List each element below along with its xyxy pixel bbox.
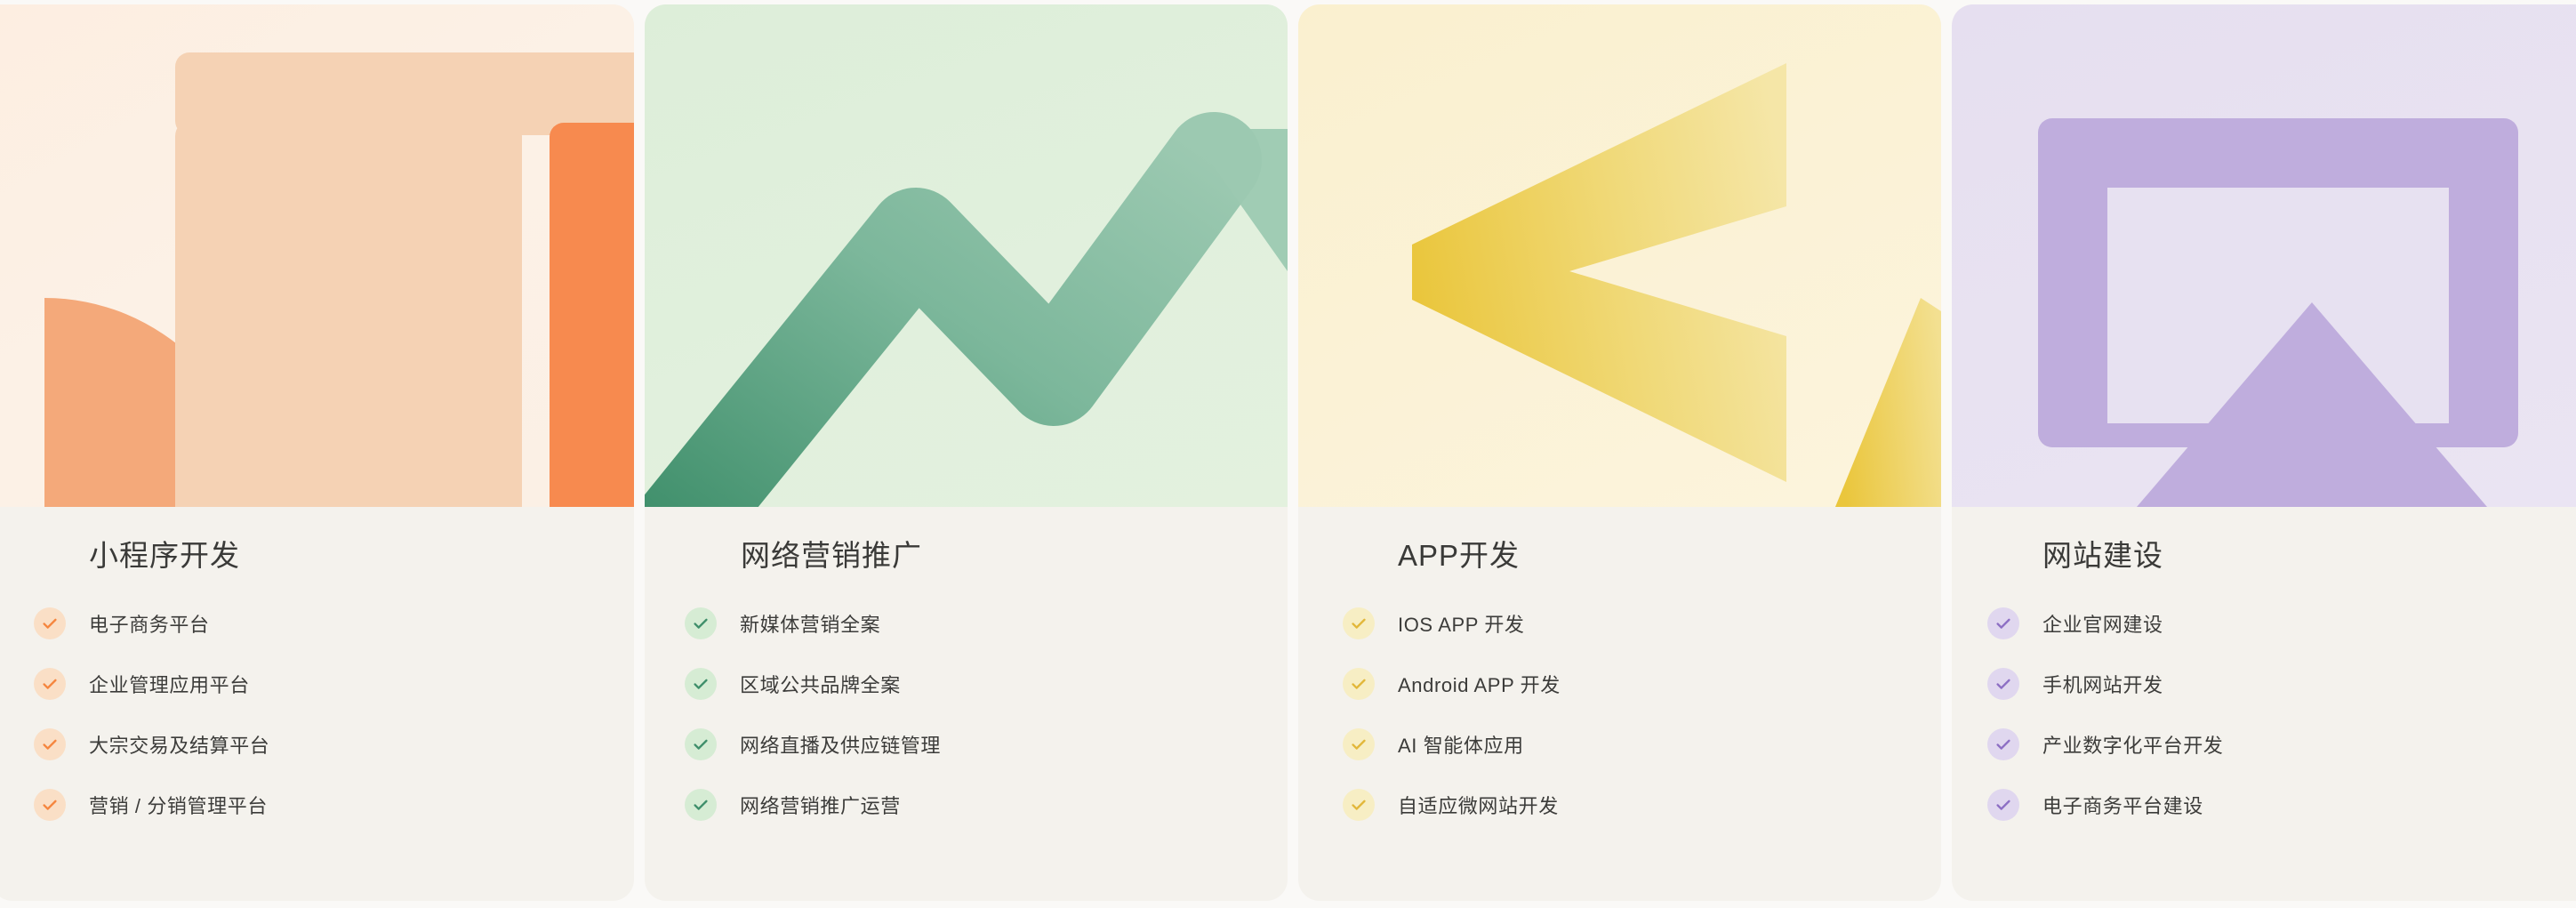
feature-list: 新媒体营销全案 区域公共品牌全案 网络直播及供应链管理: [685, 607, 1288, 849]
trend-arrow-svg: [645, 4, 1288, 507]
card-body: 小程序开发 电子商务平台 企业管理应用平台: [0, 507, 634, 901]
service-cards-row: 小程序开发 电子商务平台 企业管理应用平台: [0, 4, 2576, 908]
card-title: APP开发: [1398, 532, 1520, 575]
list-item[interactable]: 区域公共品牌全案: [685, 668, 1288, 700]
list-item[interactable]: 手机网站开发: [1987, 668, 2576, 700]
list-item[interactable]: 新媒体营销全案: [685, 607, 1288, 639]
list-item-label: 网络营销推广运营: [740, 791, 901, 819]
list-item[interactable]: 电子商务平台: [34, 607, 634, 639]
check-icon: [1343, 607, 1375, 639]
list-item-label: 产业数字化平台开发: [2042, 730, 2223, 759]
check-icon: [1343, 728, 1375, 760]
list-item-label: 电子商务平台: [89, 609, 210, 638]
list-item[interactable]: 网络直播及供应链管理: [685, 728, 1288, 760]
code-chevron-illustration: [1298, 4, 1941, 507]
service-card-mini-program[interactable]: 小程序开发 电子商务平台 企业管理应用平台: [0, 4, 634, 901]
list-item[interactable]: AI 智能体应用: [1343, 728, 1941, 760]
list-item-label: 区域公共品牌全案: [740, 670, 901, 698]
check-icon: [685, 789, 717, 821]
growth-trend-arrow-illustration: [645, 4, 1288, 507]
list-item-label: 手机网站开发: [2042, 670, 2163, 698]
feature-list: 企业官网建设 手机网站开发 产业数字化平台开发: [1987, 607, 2576, 849]
list-item[interactable]: 企业管理应用平台: [34, 668, 634, 700]
list-item-label: 电子商务平台建设: [2042, 791, 2203, 819]
list-item[interactable]: Android APP 开发: [1343, 668, 1941, 700]
list-item-label: Android APP 开发: [1398, 670, 1561, 698]
check-icon: [34, 668, 66, 700]
list-item-label: IOS APP 开发: [1398, 609, 1525, 638]
card-body: 网站建设 企业官网建设 手机网站开发: [1952, 507, 2576, 901]
monitor-screen-illustration: [1952, 4, 2576, 507]
check-icon: [1987, 789, 2019, 821]
card-body: APP开发 IOS APP 开发 Android APP 开发: [1298, 507, 1941, 901]
card-title: 小程序开发: [89, 532, 240, 575]
right-accent-bar-shape: [550, 123, 634, 507]
mini-program-layout-illustration: [0, 4, 634, 507]
list-item-label: AI 智能体应用: [1398, 730, 1524, 759]
service-card-website-construction[interactable]: 网站建设 企业官网建设 手机网站开发: [1952, 4, 2576, 901]
card-title: 网站建设: [2042, 532, 2163, 575]
list-item-label: 营销 / 分销管理平台: [89, 791, 268, 819]
check-icon: [685, 607, 717, 639]
list-item-label: 大宗交易及结算平台: [89, 730, 269, 759]
chevron-svg: [1298, 4, 1941, 507]
service-card-network-marketing[interactable]: 网络营销推广 新媒体营销全案 区域公共品牌全案: [645, 4, 1288, 901]
feature-list: 电子商务平台 企业管理应用平台 大宗交易及结算平台: [34, 607, 634, 849]
list-item-label: 新媒体营销全案: [740, 609, 880, 638]
main-panel-shape: [175, 120, 522, 507]
list-item[interactable]: 大宗交易及结算平台: [34, 728, 634, 760]
check-icon: [1343, 668, 1375, 700]
list-item[interactable]: 产业数字化平台开发: [1987, 728, 2576, 760]
list-item[interactable]: 营销 / 分销管理平台: [34, 789, 634, 821]
list-item-label: 企业官网建设: [2042, 609, 2163, 638]
list-item[interactable]: 电子商务平台建设: [1987, 789, 2576, 821]
card-body: 网络营销推广 新媒体营销全案 区域公共品牌全案: [645, 507, 1288, 901]
list-item[interactable]: IOS APP 开发: [1343, 607, 1941, 639]
check-icon: [1987, 668, 2019, 700]
check-icon: [685, 728, 717, 760]
list-item-label: 网络直播及供应链管理: [740, 730, 941, 759]
check-icon: [1987, 607, 2019, 639]
list-item[interactable]: 自适应微网站开发: [1343, 789, 1941, 821]
check-icon: [1987, 728, 2019, 760]
check-icon: [34, 789, 66, 821]
list-item-label: 自适应微网站开发: [1398, 791, 1559, 819]
check-icon: [34, 607, 66, 639]
feature-list: IOS APP 开发 Android APP 开发 AI 智能体应用: [1343, 607, 1941, 849]
triangle-shape: [2137, 302, 2487, 507]
check-icon: [34, 728, 66, 760]
service-card-app-development[interactable]: APP开发 IOS APP 开发 Android APP 开发: [1298, 4, 1941, 901]
list-item[interactable]: 网络营销推广运营: [685, 789, 1288, 821]
list-item[interactable]: 企业官网建设: [1987, 607, 2576, 639]
check-icon: [1343, 789, 1375, 821]
check-icon: [685, 668, 717, 700]
list-item-label: 企业管理应用平台: [89, 670, 250, 698]
card-title: 网络营销推广: [741, 532, 922, 575]
